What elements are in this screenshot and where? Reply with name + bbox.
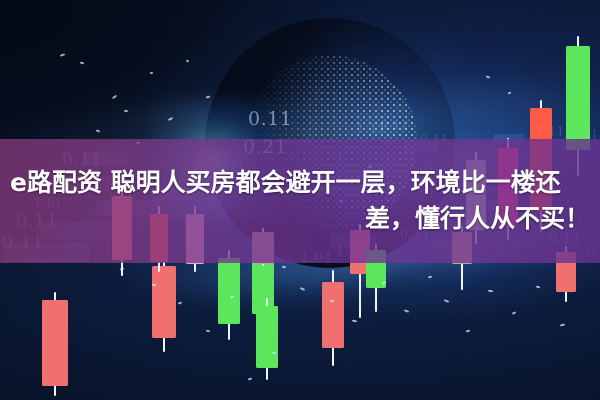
price-number: 0.11 bbox=[248, 108, 292, 130]
headline-line-1: e路配资 聪明人买房都会避开一层，环境比一楼还 bbox=[10, 165, 590, 201]
headline-text-block: e路配资 聪明人买房都会避开一层，环境比一楼还 差，懂行人从不买！ bbox=[0, 139, 600, 263]
price-number: 1.11 bbox=[536, 124, 565, 138]
headline-line-2: 差，懂行人从不买！ bbox=[10, 201, 590, 237]
price-number: 0.11 bbox=[380, 118, 409, 132]
promo-banner-image: 0.110.211.110.111.111.011.010.111.010.21… bbox=[0, 0, 600, 400]
